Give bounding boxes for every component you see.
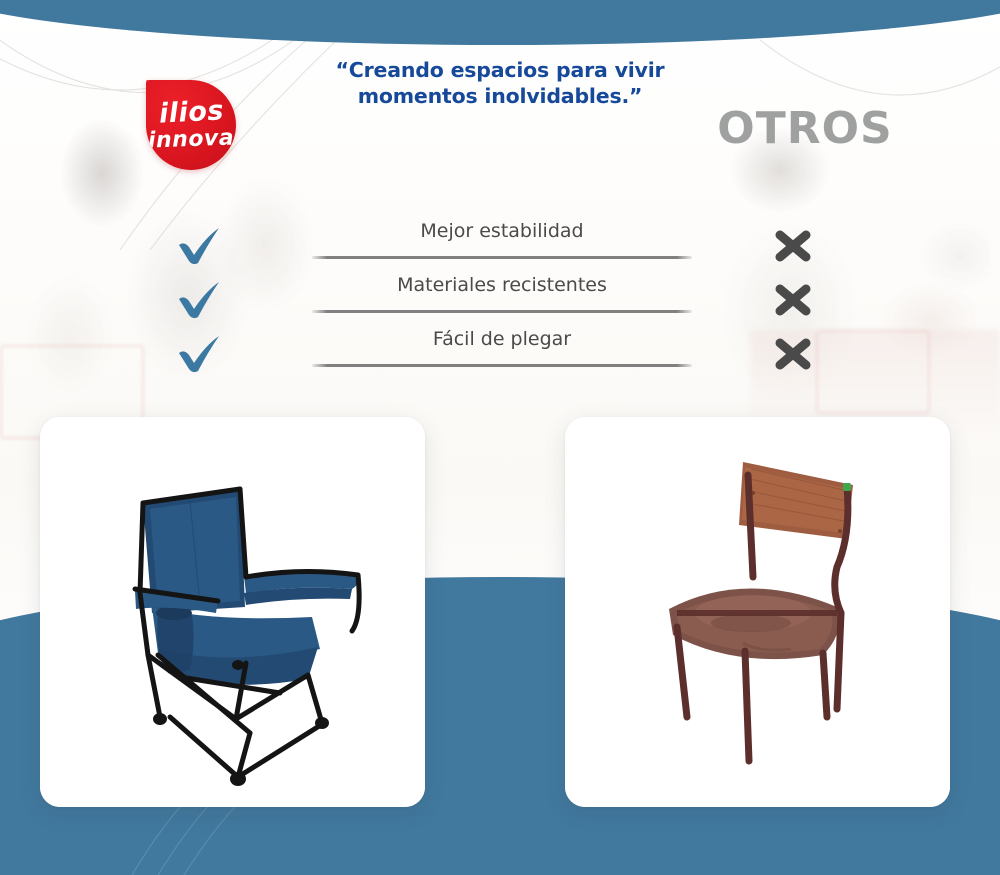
feature-label: Fácil de plegar bbox=[312, 328, 692, 350]
cross-icon bbox=[770, 278, 816, 322]
competitor-heading: OTROS bbox=[700, 103, 910, 154]
tagline-line-1: “Creando espacios para vivir bbox=[300, 58, 700, 84]
row-divider bbox=[312, 256, 692, 259]
cross-icon bbox=[770, 332, 816, 376]
tagline-line-2: momentos inolvidables.” bbox=[300, 84, 700, 110]
check-icon bbox=[175, 334, 223, 374]
logo-text-line2: innova bbox=[148, 128, 235, 153]
feature-label: Mejor estabilidad bbox=[312, 220, 692, 242]
logo-text-line1: ilios bbox=[158, 97, 224, 127]
tagline: “Creando espacios para vivir momentos in… bbox=[300, 58, 700, 109]
check-icon bbox=[175, 280, 223, 320]
row-divider bbox=[312, 310, 692, 313]
check-icon bbox=[175, 226, 223, 266]
product-card-ours bbox=[40, 417, 425, 807]
ilios-innova-logo: ilios innova bbox=[146, 80, 236, 170]
comparison-table: Mejor estabilidad Materiales recistentes bbox=[0, 218, 1000, 380]
silla-plegable-azul-image bbox=[40, 417, 425, 807]
feature-label: Materiales recistentes bbox=[312, 274, 692, 296]
row-divider bbox=[312, 364, 692, 367]
comparison-row: Fácil de plegar bbox=[0, 326, 1000, 380]
comparison-poster: ilios innova “Creando espacios para vivi… bbox=[0, 0, 1000, 875]
silla-escolar-desgastada-image bbox=[565, 417, 950, 807]
comparison-row: Mejor estabilidad bbox=[0, 218, 1000, 272]
product-card-theirs bbox=[565, 417, 950, 807]
comparison-row: Materiales recistentes bbox=[0, 272, 1000, 326]
cross-icon bbox=[770, 224, 816, 268]
